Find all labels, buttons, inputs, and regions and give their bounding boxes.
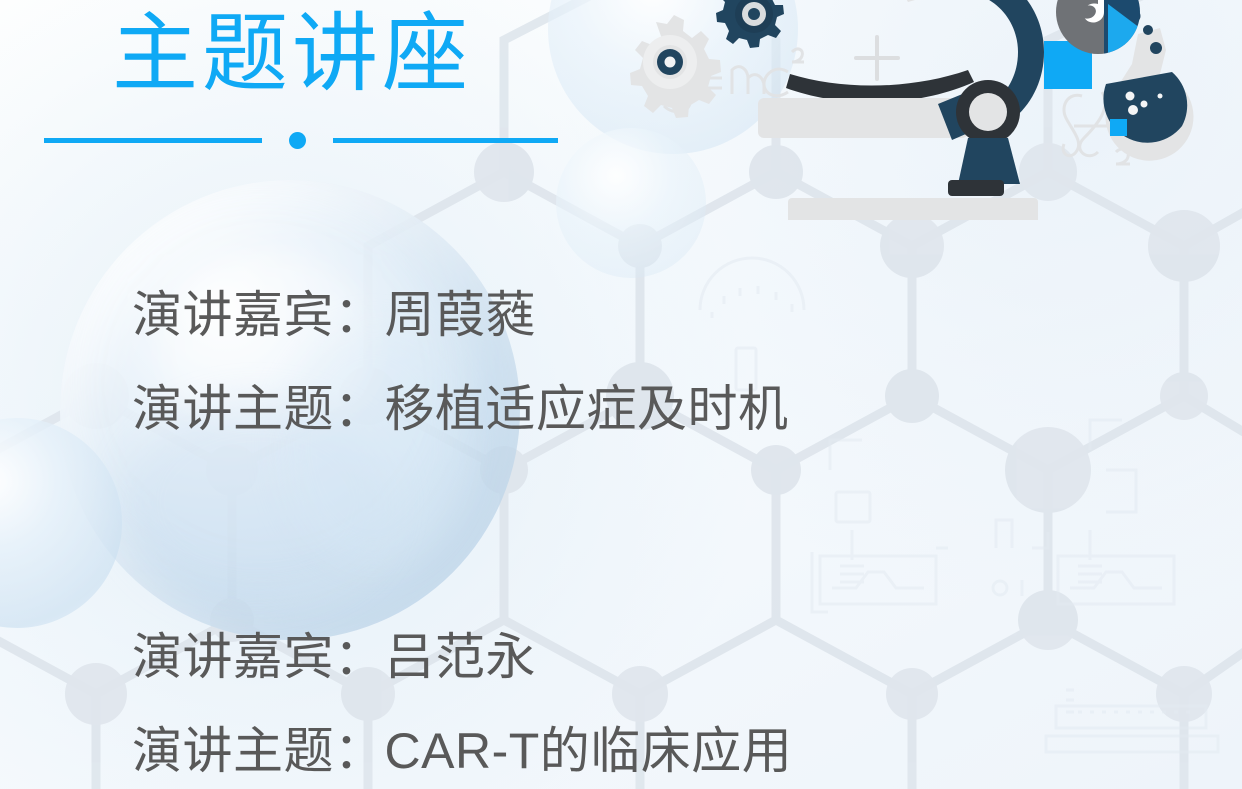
science-illustration-cluster xyxy=(582,0,1242,220)
topic-label-1: 演讲主题： xyxy=(132,381,385,437)
topic-name-2: CAR-T的临床应用 xyxy=(385,723,793,779)
bubble-sphere-mid xyxy=(556,128,706,278)
speaker-guest-line-2: 演讲嘉宾：吕范永 xyxy=(132,610,792,704)
divider-bar-right xyxy=(333,138,558,143)
speaker-block-1: 演讲嘉宾：周葭蕤 演讲主题：移植适应症及时机 xyxy=(132,268,789,456)
guest-name-1: 周葭蕤 xyxy=(385,287,537,343)
microscope-icon xyxy=(758,0,1044,220)
divider-bar-left xyxy=(44,138,262,143)
accent-square-small xyxy=(1110,119,1127,136)
speaker-guest-line-1: 演讲嘉宾：周葭蕤 xyxy=(132,268,789,362)
topic-name-1: 移植适应症及时机 xyxy=(385,381,789,437)
topic-label-2: 演讲主题： xyxy=(132,723,385,779)
speaker-topic-line-2: 演讲主题：CAR-T的临床应用 xyxy=(132,704,792,789)
guest-label-1: 演讲嘉宾： xyxy=(132,287,385,343)
gear-small-icon xyxy=(716,0,784,48)
guest-label-2: 演讲嘉宾： xyxy=(132,629,385,685)
formula-h2o-text xyxy=(1063,92,1175,164)
page-title: 主题讲座 xyxy=(0,0,620,101)
plus-sign-icon xyxy=(856,37,898,79)
divider-dot xyxy=(289,132,306,149)
guest-name-2: 吕范永 xyxy=(385,629,537,685)
gear-large-icon xyxy=(630,15,721,118)
title-block: 主题讲座 xyxy=(0,0,620,101)
title-divider xyxy=(44,131,558,149)
presentation-slide: 主题讲座 演讲嘉宾：周葭蕤 演讲主题：移植适应症及时机 演讲嘉宾：吕范永 演讲主… xyxy=(0,0,1242,789)
corner-logo xyxy=(1056,0,1140,54)
accent-square-large xyxy=(1044,41,1092,89)
speaker-topic-line-1: 演讲主题：移植适应症及时机 xyxy=(132,362,789,456)
speaker-block-2: 演讲嘉宾：吕范永 演讲主题：CAR-T的临床应用 xyxy=(132,610,792,789)
bubble-sphere-left xyxy=(0,418,122,628)
flask-icon xyxy=(1103,0,1193,161)
formula-emc2-text xyxy=(664,49,804,112)
